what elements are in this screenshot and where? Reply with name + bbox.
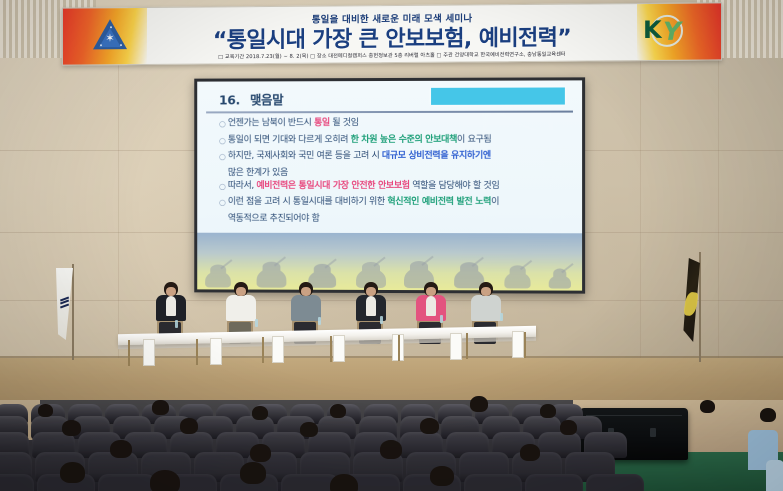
panelist-face	[236, 287, 246, 296]
panelist-shirt	[366, 296, 376, 316]
water-bottle	[380, 316, 383, 324]
panelist-face	[366, 287, 376, 296]
water-bottle	[318, 317, 321, 325]
water-bottle	[255, 319, 258, 327]
soldier-silhouettes-gradient-band	[197, 233, 582, 291]
audience-head	[700, 400, 715, 413]
bullet-marker-icon: ○	[219, 117, 228, 130]
logo-letter-k: K	[643, 18, 662, 42]
audience-head	[560, 420, 577, 435]
name-placard	[143, 339, 155, 366]
konyang-university-logo: K Y	[643, 16, 699, 46]
auditorium-seat[interactable]	[98, 474, 156, 491]
taegeuk-bars	[60, 298, 69, 307]
name-placard	[333, 335, 345, 362]
audience-shirt	[766, 460, 783, 491]
name-placard	[210, 338, 222, 365]
slide-bullet: ○통일이 되면 기대와 다르게 오히려 한 차원 높은 수준의 안보대책이 요구…	[219, 133, 570, 146]
bullet-continuation: 많은 한계가 있음	[219, 166, 570, 179]
panelist-torso	[471, 295, 501, 321]
audience-head	[540, 404, 556, 418]
slide-heading: 맺음말	[250, 92, 283, 107]
audience-head	[250, 444, 271, 462]
auditorium-seat[interactable]	[464, 474, 522, 491]
name-placard	[512, 331, 524, 358]
water-bottle	[175, 320, 178, 328]
bullet-text: 따라서, 예비전력은 통일시대 가장 안전한 안보보험 역할을 담당해야 할 것…	[228, 179, 500, 192]
audience-head	[252, 406, 268, 420]
audience-head	[60, 462, 85, 483]
bullet-marker-icon: ○	[219, 150, 228, 163]
water-bottle	[500, 313, 503, 321]
table-leg	[466, 333, 468, 359]
bullet-marker-icon: ○	[219, 134, 228, 147]
projection-screen-frame: 16. 맺음말 ○언젠가는 남북이 반드시 통일 될 것임○통일이 되면 기대와…	[194, 77, 585, 293]
slide-bullet: ○이런 점을 고려 시 통일시대를 대비하기 위한 혁신적인 예비전력 발전 노…	[219, 196, 570, 209]
bullet-text: 언젠가는 남북이 반드시 통일 될 것임	[228, 117, 359, 130]
bullet-text: 이런 점을 고려 시 통일시대를 대비하기 위한 혁신적인 예비전력 발전 노력…	[228, 196, 499, 209]
projection-screen: 16. 맺음말 ○언젠가는 남북이 반드시 통일 될 것임○통일이 되면 기대와…	[197, 80, 582, 290]
table-leg	[330, 336, 332, 362]
slide-title: 16. 맺음말	[219, 89, 283, 108]
slide-number: 16.	[219, 92, 240, 107]
slide-bullet: ○따라서, 예비전력은 통일시대 가장 안전한 안보보험 역할을 담당해야 할 …	[219, 179, 570, 192]
bullet-continuation: 역동적으로 추진되어야 함	[219, 212, 570, 225]
panelist-face	[481, 287, 491, 296]
audience-head	[330, 474, 358, 491]
panelist-face	[301, 287, 311, 296]
bullet-marker-icon: ○	[219, 196, 228, 209]
audience-head	[330, 404, 346, 418]
panelist-face	[426, 287, 436, 296]
water-bottle	[440, 315, 443, 323]
auditorium-seat[interactable]	[586, 474, 644, 491]
audience-head	[520, 444, 540, 461]
panelist-shirt	[426, 296, 436, 316]
table-leg	[196, 339, 198, 365]
audience-head	[380, 440, 402, 459]
bullet-text: 하지만, 국제사회와 국민 여론 등을 고려 시 대규모 상비전력을 유지하기엔	[228, 150, 491, 163]
soldier-silhouette	[205, 272, 231, 288]
slide-divider	[206, 111, 573, 113]
audience-head	[62, 420, 81, 436]
audience-head	[180, 418, 198, 434]
name-placard	[272, 336, 284, 363]
panelist-face	[166, 287, 176, 296]
panelist-shirt	[166, 296, 176, 316]
name-placard	[450, 333, 462, 360]
audience-head	[152, 400, 169, 415]
slide-bullet-list: ○언젠가는 남북이 반드시 통일 될 것임○통일이 되면 기대와 다르게 오히려…	[219, 117, 570, 226]
soldier-silhouette	[504, 272, 530, 288]
seminar-photo-scene: ✶ 통일을 대비한 새로운 미래 모색 세미나 “통일시대 가장 큰 안보보험,…	[0, 0, 783, 491]
soldier-silhouette	[257, 269, 287, 288]
seminar-banner: ✶ 통일을 대비한 새로운 미래 모색 세미나 “통일시대 가장 큰 안보보험,…	[62, 2, 722, 65]
table-leg	[524, 332, 526, 358]
bullet-marker-icon: ○	[219, 180, 228, 193]
slide-bullet: ○하지만, 국제사회와 국민 여론 등을 고려 시 대규모 상비전력을 유지하기…	[219, 150, 570, 163]
bullet-text: 통일이 되면 기대와 다르게 오히려 한 차원 높은 수준의 안보대책이 요구됨	[228, 133, 492, 146]
panelist-torso	[291, 295, 321, 321]
audience-head	[420, 418, 439, 434]
audience-head	[150, 470, 180, 491]
auditorium-seat[interactable]	[0, 474, 34, 491]
audience-head	[240, 462, 266, 484]
table-leg	[398, 335, 400, 361]
slide-title-badge	[431, 87, 565, 104]
audience-head	[300, 422, 318, 437]
audience-head	[430, 466, 454, 486]
audience-head	[760, 408, 776, 422]
slide-bullet: ○언젠가는 남북이 반드시 통일 될 것임	[219, 117, 570, 131]
rifle-silhouette	[561, 263, 573, 273]
logo-letter-y: Y	[663, 19, 681, 44]
audience-head	[38, 404, 53, 417]
audience-head	[110, 440, 132, 458]
table-leg	[262, 337, 264, 363]
auditorium-seat[interactable]	[525, 474, 583, 491]
soldier-silhouette	[549, 275, 571, 288]
table-leg	[128, 340, 130, 366]
panelist-torso	[226, 295, 256, 321]
audience-head	[470, 396, 488, 412]
